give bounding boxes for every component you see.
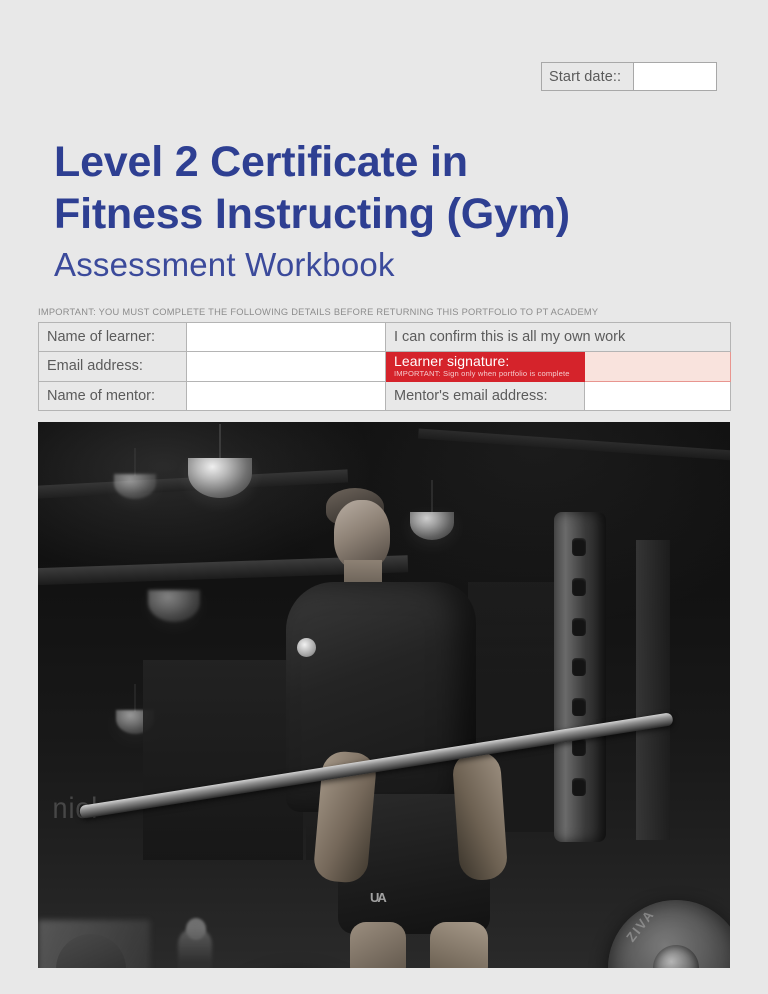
page-title-line1: Level 2 Certificate in [54, 136, 734, 188]
page-title-line2: Fitness Instructing (Gym) [54, 188, 734, 240]
weight-plate: ZIVA ZIVA [608, 900, 730, 968]
gym-scene: niol UA [38, 422, 730, 968]
background-person [178, 928, 212, 968]
athlete-left-leg [350, 922, 406, 968]
name-of-learner-label: Name of learner: [39, 323, 187, 352]
name-of-learner-input[interactable] [187, 323, 386, 352]
mentor-email-label: Mentor's email address: [386, 381, 585, 410]
equipment-rack [554, 512, 606, 842]
wall-panel [143, 660, 303, 860]
own-work-confirmation-label: I can confirm this is all my own work [386, 323, 731, 352]
email-address-input[interactable] [187, 352, 386, 382]
plate-brand-label: ZIVA [623, 906, 657, 944]
mentor-email-input[interactable] [585, 381, 731, 410]
athlete-sleeve-badge [297, 638, 316, 657]
ceiling-beam [418, 429, 730, 462]
workbook-cover-page: Start date:: Level 2 Certificate in Fitn… [0, 0, 768, 994]
equipment-rack-secondary [636, 540, 670, 840]
learner-details-table: Name of learner: I can confirm this is a… [38, 322, 731, 411]
learner-signature-title: Learner signature: [394, 354, 576, 369]
cover-photograph: niol UA [38, 422, 730, 968]
plate-hub [653, 945, 699, 968]
learner-signature-input[interactable] [585, 352, 731, 382]
athlete-right-leg [430, 922, 488, 968]
pendant-lamp [148, 590, 200, 622]
email-address-label: Email address: [39, 352, 187, 382]
start-date-label: Start date:: [542, 63, 634, 90]
table-row: Name of learner: I can confirm this is a… [39, 323, 731, 352]
lamp-cord [134, 684, 136, 712]
page-subtitle: Assessment Workbook [54, 245, 395, 285]
table-row: Email address: Learner signature: IMPORT… [39, 352, 731, 382]
lamp-cord [219, 424, 221, 460]
table-row: Name of mentor: Mentor's email address: [39, 381, 731, 410]
name-of-mentor-input[interactable] [187, 381, 386, 410]
learner-signature-label: Learner signature: IMPORTANT: Sign only … [386, 352, 585, 382]
lamp-cord [134, 448, 136, 476]
learner-signature-warning: IMPORTANT: Sign only when portfolio is c… [394, 370, 576, 378]
athlete-right-arm [452, 750, 509, 881]
start-date-input[interactable] [634, 63, 716, 90]
apparel-brand-logo: UA [370, 890, 396, 905]
start-date-field[interactable]: Start date:: [541, 62, 717, 91]
pendant-lamp [410, 512, 454, 540]
lamp-cord [431, 480, 433, 514]
important-notice: IMPORTANT: YOU MUST COMPLETE THE FOLLOWI… [38, 307, 598, 317]
pendant-lamp [114, 474, 156, 499]
pendant-lamp [188, 458, 252, 498]
page-title: Level 2 Certificate in Fitness Instructi… [54, 136, 734, 240]
name-of-mentor-label: Name of mentor: [39, 381, 187, 410]
